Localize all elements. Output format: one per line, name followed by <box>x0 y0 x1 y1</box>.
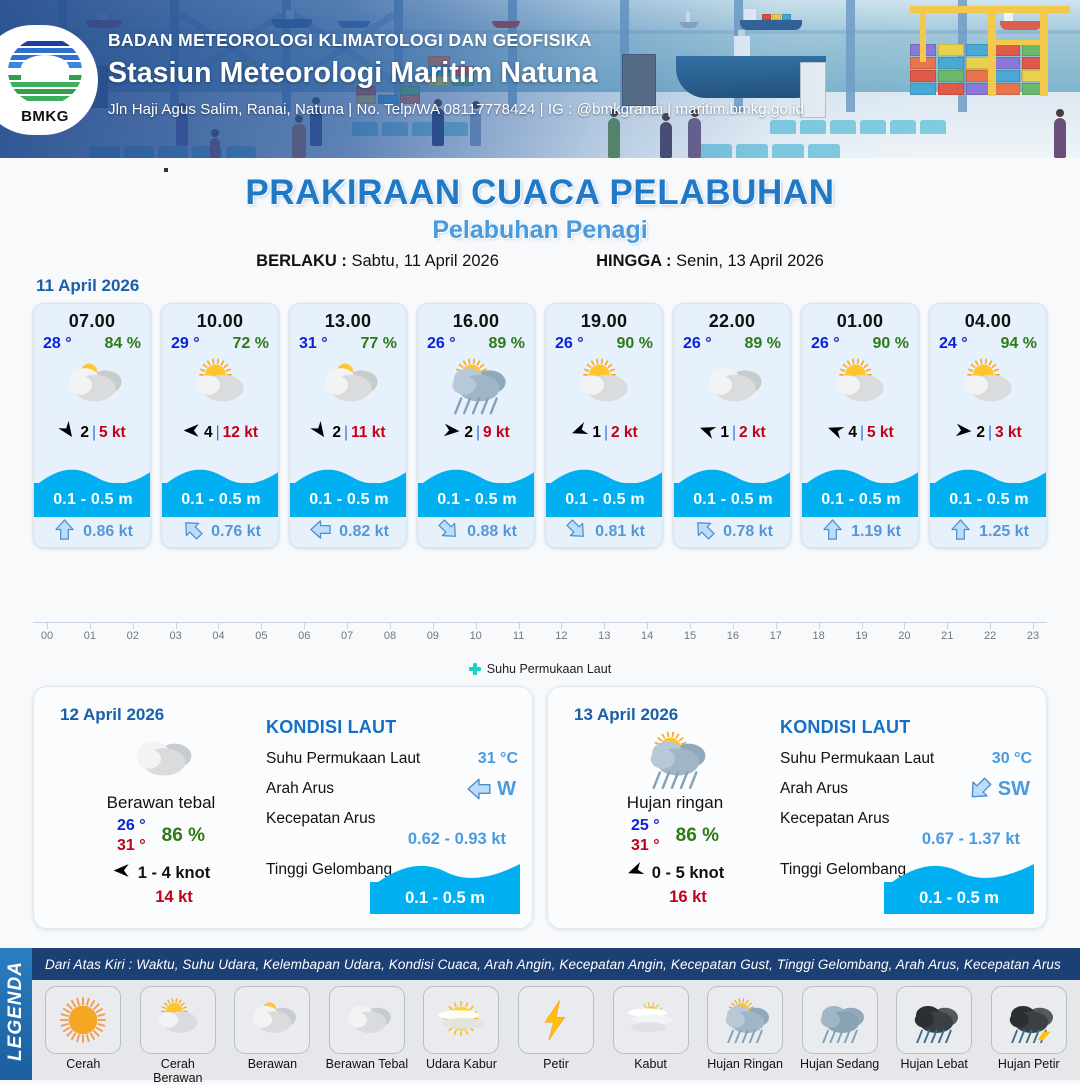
legend-item-label: Petir <box>513 1057 600 1071</box>
partly-cloudy-icon <box>34 355 150 417</box>
hourly-card: 16.0026 °89 %2|9 kt0.1 - 0.5 m0.88 kt <box>417 303 535 548</box>
card-wave-zone: 0.1 - 0.5 m0.76 kt <box>162 453 279 547</box>
sun-cloud-icon <box>930 355 1046 417</box>
chart-tick <box>947 622 948 629</box>
heavy-rain-icon <box>896 986 972 1054</box>
wave-height-band: 0.1 - 0.5 m <box>802 483 919 517</box>
current-speed: 1.19 kt <box>851 523 901 541</box>
chart-tick <box>862 622 863 629</box>
panel-wave-graphic: 0.1 - 0.5 m <box>370 854 520 914</box>
legend-item: Petir <box>513 986 600 1080</box>
wave-height: 0.1 - 0.5 m <box>53 491 133 509</box>
panel-gust: 16 kt <box>596 888 780 907</box>
current-speed: 0.81 kt <box>595 523 645 541</box>
card-wave-zone: 0.1 - 0.5 m0.82 kt <box>290 453 407 547</box>
wave-height-band: 0.1 - 0.5 m <box>162 483 279 517</box>
wind-separator: | <box>216 424 220 442</box>
chart-tick <box>990 622 991 629</box>
legend-marker-icon <box>469 663 481 675</box>
validity-row: BERLAKU : Sabtu, 11 April 2026 HINGGA : … <box>0 252 1080 271</box>
panel-temp-max: 31 ° <box>631 836 660 856</box>
card-wave-zone: 0.1 - 0.5 m0.86 kt <box>34 453 151 547</box>
hourly-date: 11 April 2026 <box>36 276 139 296</box>
card-temperature: 24 ° <box>939 335 968 353</box>
cloudy-icon <box>674 355 790 417</box>
legend-item-label: Berawan <box>229 1057 316 1071</box>
legend-item-label: Cerah <box>40 1057 127 1071</box>
legend-item: Hujan Petir <box>985 986 1072 1080</box>
station-name: Stasiun Meteorologi Maritim Natuna <box>108 57 804 90</box>
daily-panel: 13 April 2026Hujan ringan25 °31 °86 %0 -… <box>547 686 1047 929</box>
card-humidity: 77 % <box>361 335 397 353</box>
hourly-forecast-cards: 07.0028 °84 %2|5 kt0.1 - 0.5 m0.86 kt10.… <box>33 303 1047 548</box>
current-speed-value: 0.67 - 1.37 kt <box>780 830 1032 849</box>
chart-tick-label: 01 <box>84 630 96 642</box>
sea-row-value: 31 °C <box>478 750 518 768</box>
legend-item-label: Hujan Ringan <box>702 1057 789 1071</box>
wind-speed: 3 kt <box>995 424 1022 442</box>
card-humidity: 94 % <box>1001 335 1037 353</box>
card-wave-zone: 0.1 - 0.5 m0.78 kt <box>674 453 791 547</box>
wind-speed: 5 kt <box>867 424 894 442</box>
chart-tick-label: 04 <box>212 630 224 642</box>
card-temperature: 28 ° <box>43 335 72 353</box>
fog-icon <box>613 986 689 1054</box>
chart-tick-label: 05 <box>255 630 267 642</box>
card-wave-zone: 0.1 - 0.5 m0.88 kt <box>418 453 535 547</box>
sea-row-label: Suhu Permukaan Laut <box>266 750 420 767</box>
valid-until-value: Senin, 13 April 2026 <box>676 252 824 270</box>
card-wind: 1|2 kt <box>674 421 790 445</box>
card-wind: 2|11 kt <box>290 421 406 445</box>
card-temperature: 29 ° <box>171 335 200 353</box>
wind-separator: | <box>92 424 96 442</box>
card-wave-zone: 0.1 - 0.5 m0.81 kt <box>546 453 663 547</box>
sst-chart: 0001020304050607080910111213141516171819… <box>33 600 1047 670</box>
panel-wind-range: 1 - 4 knot <box>138 864 210 883</box>
wind-direction-arrow-icon <box>698 421 717 445</box>
moderate-rain-icon <box>802 986 878 1054</box>
chart-tick-label: 19 <box>855 630 867 642</box>
wave-height: 0.1 - 0.5 m <box>693 491 773 509</box>
card-time: 10.00 <box>162 311 278 332</box>
card-current: 0.88 kt <box>418 517 535 547</box>
chart-tick <box>690 622 691 629</box>
card-wind: 4|5 kt <box>802 421 918 445</box>
panel-wave-height: 0.1 - 0.5 m <box>405 889 485 908</box>
wind-direction-arrow-icon <box>182 421 201 445</box>
chart-legend: Suhu Permukaan Laut <box>33 662 1047 676</box>
card-current: 0.76 kt <box>162 517 279 547</box>
wind-separator: | <box>604 424 608 442</box>
chart-tick <box>776 622 777 629</box>
wave-height: 0.1 - 0.5 m <box>565 491 645 509</box>
panel-condition: Berawan tebal <box>56 793 266 813</box>
valid-from-value: Sabtu, 11 April 2026 <box>352 252 499 270</box>
panel-date: 12 April 2026 <box>60 705 164 725</box>
haze-icon <box>423 986 499 1054</box>
card-time: 19.00 <box>546 311 662 332</box>
legend-item-label: Kabut <box>607 1057 694 1071</box>
legend-item-label: Hujan Petir <box>985 1057 1072 1071</box>
sea-row: Arah ArusSW <box>780 780 1032 798</box>
card-wind: 2|5 kt <box>34 421 150 445</box>
cloudy-icon <box>329 986 405 1054</box>
current-direction-arrow-icon <box>309 518 332 546</box>
current-direction-arrow-icon <box>821 518 844 546</box>
panel-temp-min: 26 ° <box>117 816 146 836</box>
legend-section: LEGENDA Dari Atas Kiri : Waktu, Suhu Uda… <box>0 948 1080 1080</box>
wind-separator: | <box>344 424 348 442</box>
panel-condition: Hujan ringan <box>570 793 780 813</box>
panel-wave-band: 0.1 - 0.5 m <box>884 882 1034 914</box>
daily-forecast-panels: 12 April 2026Berawan tebal26 °31 °86 %1 … <box>33 686 1047 929</box>
wind-speed: 2 kt <box>739 424 766 442</box>
chart-tick <box>476 622 477 629</box>
valid-from-label: BERLAKU : <box>256 252 347 270</box>
current-speed: 0.82 kt <box>339 523 389 541</box>
card-current: 1.19 kt <box>802 517 919 547</box>
contact-info: Jln Haji Agus Salim, Ranai, Natuna | No.… <box>108 101 804 118</box>
wave-height: 0.1 - 0.5 m <box>949 491 1029 509</box>
legend-note: Dari Atas Kiri : Waktu, Suhu Udara, Kele… <box>32 948 1080 980</box>
wind-scale: 1 <box>720 424 729 442</box>
wind-scale: 2 <box>332 424 341 442</box>
light-rain-icon <box>418 355 534 417</box>
lightning-icon <box>518 986 594 1054</box>
legend-items: CerahCerah BerawanBerawanBerawan TebalUd… <box>32 980 1080 1080</box>
wind-speed: 9 kt <box>483 424 510 442</box>
sea-conditions-title: KONDISI LAUT <box>266 717 518 738</box>
chart-tick-label: 12 <box>555 630 567 642</box>
wind-speed: 5 kt <box>99 424 126 442</box>
current-direction-arrow-icon <box>949 518 972 546</box>
card-wind: 1|2 kt <box>546 421 662 445</box>
sea-row-label: Arah Arus <box>780 780 848 797</box>
sun-cloud-icon <box>162 355 278 417</box>
current-direction-arrow-icon <box>53 518 76 546</box>
wind-direction-arrow-icon <box>826 421 845 445</box>
wave-height: 0.1 - 0.5 m <box>309 491 389 509</box>
chart-tick <box>218 622 219 629</box>
sea-row: Kecepatan Arus <box>266 810 518 828</box>
panel-wind: 1 - 4 knot <box>56 861 266 885</box>
hourly-card: 04.0024 °94 %2|3 kt0.1 - 0.5 m1.25 kt <box>929 303 1047 548</box>
current-direction-arrow-icon <box>437 518 460 546</box>
wave-height-band: 0.1 - 0.5 m <box>930 483 1047 517</box>
chart-tick-label: 22 <box>984 630 996 642</box>
sun-cloud-icon <box>140 986 216 1054</box>
wind-scale: 4 <box>848 424 857 442</box>
sea-row-value: 30 °C <box>992 750 1032 768</box>
chart-tick <box>904 622 905 629</box>
chart-tick <box>819 622 820 629</box>
card-current: 0.82 kt <box>290 517 407 547</box>
card-temperature: 26 ° <box>427 335 456 353</box>
partly-cloudy-icon <box>234 986 310 1054</box>
current-speed: 0.76 kt <box>211 523 261 541</box>
panel-date: 13 April 2026 <box>574 705 678 725</box>
chart-ticks <box>33 622 1047 630</box>
hourly-card: 19.0026 °90 %1|2 kt0.1 - 0.5 m0.81 kt <box>545 303 663 548</box>
card-humidity: 90 % <box>873 335 909 353</box>
card-temperature: 26 ° <box>683 335 712 353</box>
sun-icon <box>45 986 121 1054</box>
wave-height: 0.1 - 0.5 m <box>437 491 517 509</box>
sea-row-value: W <box>466 776 516 802</box>
card-temperature: 26 ° <box>555 335 584 353</box>
card-time: 16.00 <box>418 311 534 332</box>
panel-wave-graphic: 0.1 - 0.5 m <box>884 854 1034 914</box>
chart-tick <box>433 622 434 629</box>
chart-tick <box>390 622 391 629</box>
chart-tick <box>519 622 520 629</box>
page-title: PRAKIRAAN CUACA PELABUHAN <box>0 173 1080 213</box>
chart-tick-label: 20 <box>898 630 910 642</box>
sea-row-value: SW <box>967 776 1030 802</box>
wind-scale: 2 <box>464 424 473 442</box>
card-current: 1.25 kt <box>930 517 1047 547</box>
sea-row: Suhu Permukaan Laut30 °C <box>780 750 1032 768</box>
legend-side-label: LEGENDA <box>5 955 27 1067</box>
legend-item: Udara Kabur <box>418 986 505 1080</box>
chart-tick <box>1033 622 1034 629</box>
wind-speed: 2 kt <box>611 424 638 442</box>
hourly-card: 22.0026 °89 %1|2 kt0.1 - 0.5 m0.78 kt <box>673 303 791 548</box>
current-direction-arrow-icon <box>565 518 588 546</box>
chart-tick-label: 00 <box>41 630 53 642</box>
chart-tick <box>304 622 305 629</box>
chart-tick-label: 15 <box>684 630 696 642</box>
wave-height: 0.1 - 0.5 m <box>181 491 261 509</box>
thunderstorm-icon <box>991 986 1067 1054</box>
chart-tick-label: 13 <box>598 630 610 642</box>
hourly-card: 10.0029 °72 %4|12 kt0.1 - 0.5 m0.76 kt <box>161 303 279 548</box>
legend-item: Hujan Lebat <box>891 986 978 1080</box>
legend-item-label: Hujan Lebat <box>891 1057 978 1071</box>
wind-separator: | <box>732 424 736 442</box>
current-speed: 1.25 kt <box>979 523 1029 541</box>
daily-panel: 12 April 2026Berawan tebal26 °31 °86 %1 … <box>33 686 533 929</box>
wave-height-band: 0.1 - 0.5 m <box>418 483 535 517</box>
card-humidity: 84 % <box>105 335 141 353</box>
panel-weather-summary: Hujan ringan25 °31 °86 %0 - 5 knot16 kt <box>570 731 780 907</box>
bmkg-logo-emblem <box>8 37 82 105</box>
chart-tick <box>604 622 605 629</box>
sea-row-label: Arah Arus <box>266 780 334 797</box>
wind-direction-arrow-icon <box>58 421 77 445</box>
legend-item: Cerah <box>40 986 127 1080</box>
panel-temp-min: 25 ° <box>631 816 660 836</box>
chart-tick <box>47 622 48 629</box>
wave-height-band: 0.1 - 0.5 m <box>34 483 151 517</box>
card-time: 22.00 <box>674 311 790 332</box>
chart-tick <box>133 622 134 629</box>
panel-temp-max: 31 ° <box>117 836 146 856</box>
legend-item: Berawan Tebal <box>324 986 411 1080</box>
chart-tick-label: 06 <box>298 630 310 642</box>
light-rain-icon <box>570 731 780 789</box>
card-wind: 4|12 kt <box>162 421 278 445</box>
card-wave-zone: 0.1 - 0.5 m1.25 kt <box>930 453 1047 547</box>
current-speed: 0.78 kt <box>723 523 773 541</box>
chart-tick <box>347 622 348 629</box>
panel-wind: 0 - 5 knot <box>570 861 780 885</box>
card-humidity: 90 % <box>617 335 653 353</box>
chart-tick-label: 03 <box>169 630 181 642</box>
panel-wind-range: 0 - 5 knot <box>652 864 724 883</box>
legend-item-label: Hujan Sedang <box>796 1057 883 1071</box>
wind-direction-arrow-icon <box>954 421 973 445</box>
wave-height-band: 0.1 - 0.5 m <box>290 483 407 517</box>
card-humidity: 72 % <box>233 335 269 353</box>
partly-cloudy-icon <box>290 355 406 417</box>
sun-cloud-icon <box>802 355 918 417</box>
panel-wave-band: 0.1 - 0.5 m <box>370 882 520 914</box>
agency-name: BADAN METEOROLOGI KLIMATOLOGI DAN GEOFIS… <box>108 30 804 51</box>
chart-tick <box>176 622 177 629</box>
legend-item: Cerah Berawan <box>135 986 222 1080</box>
card-wind: 2|9 kt <box>418 421 534 445</box>
card-wind: 2|3 kt <box>930 421 1046 445</box>
panel-humidity: 86 % <box>676 825 719 847</box>
valid-until-label: HINGGA : <box>596 252 671 270</box>
card-time: 07.00 <box>34 311 150 332</box>
page-subtitle: Pelabuhan Penagi <box>0 216 1080 245</box>
wind-direction-arrow-icon <box>310 421 329 445</box>
wind-scale: 2 <box>80 424 89 442</box>
chart-tick <box>261 622 262 629</box>
chart-tick-label: 17 <box>770 630 782 642</box>
legend-item: Berawan <box>229 986 316 1080</box>
hourly-card: 07.0028 °84 %2|5 kt0.1 - 0.5 m0.86 kt <box>33 303 151 548</box>
header-banner: BMKG BADAN METEOROLOGI KLIMATOLOGI DAN G… <box>0 0 1080 158</box>
card-current: 0.81 kt <box>546 517 663 547</box>
card-time: 01.00 <box>802 311 918 332</box>
card-wave-zone: 0.1 - 0.5 m1.19 kt <box>802 453 919 547</box>
wind-scale: 4 <box>204 424 213 442</box>
sun-cloud-icon <box>546 355 662 417</box>
current-direction-text: SW <box>998 778 1030 801</box>
chart-tick-labels: 0001020304050607080910111213141516171819… <box>33 630 1047 648</box>
light-rain-icon <box>707 986 783 1054</box>
wave-height-band: 0.1 - 0.5 m <box>674 483 791 517</box>
wind-separator: | <box>476 424 480 442</box>
cloudy-icon <box>56 731 266 789</box>
wind-direction-arrow-icon <box>626 861 645 885</box>
sea-row: Suhu Permukaan Laut31 °C <box>266 750 518 768</box>
legend-item: Kabut <box>607 986 694 1080</box>
current-speed-value: 0.62 - 0.93 kt <box>266 830 518 849</box>
panel-wave-height: 0.1 - 0.5 m <box>919 889 999 908</box>
chart-tick-label: 09 <box>427 630 439 642</box>
legend-item: Hujan Sedang <box>796 986 883 1080</box>
panel-humidity: 86 % <box>162 825 205 847</box>
hourly-card: 13.0031 °77 %2|11 kt0.1 - 0.5 m0.82 kt <box>289 303 407 548</box>
chart-tick-label: 18 <box>813 630 825 642</box>
sea-row-label: Kecepatan Arus <box>266 810 375 827</box>
wind-scale: 2 <box>976 424 985 442</box>
hourly-card: 01.0026 °90 %4|5 kt0.1 - 0.5 m1.19 kt <box>801 303 919 548</box>
current-speed: 0.86 kt <box>83 523 133 541</box>
chart-tick <box>647 622 648 629</box>
wind-direction-arrow-icon <box>442 421 461 445</box>
chart-tick <box>733 622 734 629</box>
chart-tick-label: 02 <box>127 630 139 642</box>
dot-artifact <box>164 168 168 172</box>
card-current: 0.78 kt <box>674 517 791 547</box>
wind-separator: | <box>988 424 992 442</box>
bmkg-logo-text: BMKG <box>8 108 82 125</box>
card-humidity: 89 % <box>745 335 781 353</box>
card-temperature: 26 ° <box>811 335 840 353</box>
wave-height-band: 0.1 - 0.5 m <box>546 483 663 517</box>
current-speed: 0.88 kt <box>467 523 517 541</box>
chart-tick-label: 08 <box>384 630 396 642</box>
chart-tick-label: 07 <box>341 630 353 642</box>
chart-tick-label: 11 <box>513 630 524 642</box>
chart-tick-label: 16 <box>727 630 739 642</box>
wind-speed: 11 kt <box>351 424 385 442</box>
legend-item-label: Udara Kabur <box>418 1057 505 1071</box>
card-current: 0.86 kt <box>34 517 151 547</box>
panel-gust: 14 kt <box>82 888 266 907</box>
current-direction-arrow-icon <box>181 518 204 546</box>
legend-item-label: Berawan Tebal <box>324 1057 411 1071</box>
sea-row: Kecepatan Arus <box>780 810 1032 828</box>
wind-separator: | <box>860 424 864 442</box>
sea-conditions-title: KONDISI LAUT <box>780 717 1032 738</box>
card-time: 13.00 <box>290 311 406 332</box>
wind-direction-arrow-icon <box>570 421 589 445</box>
legend-label: Suhu Permukaan Laut <box>487 662 611 676</box>
card-time: 04.00 <box>930 311 1046 332</box>
sea-row: Arah ArusW <box>266 780 518 798</box>
legend-item-label: Cerah Berawan <box>135 1057 222 1085</box>
chart-tick <box>90 622 91 629</box>
card-temperature: 31 ° <box>299 335 328 353</box>
sea-row-label: Kecepatan Arus <box>780 810 889 827</box>
chart-tick-label: 21 <box>941 630 953 642</box>
current-direction-arrow-icon <box>693 518 716 546</box>
chart-tick <box>561 622 562 629</box>
chart-tick-label: 14 <box>641 630 653 642</box>
current-direction-text: W <box>497 778 516 801</box>
wind-scale: 1 <box>592 424 601 442</box>
legend-side-bar: LEGENDA <box>0 948 32 1080</box>
sea-row-label: Suhu Permukaan Laut <box>780 750 934 767</box>
legend-item: Hujan Ringan <box>702 986 789 1080</box>
panel-weather-summary: Berawan tebal26 °31 °86 %1 - 4 knot14 kt <box>56 731 266 907</box>
chart-tick-label: 23 <box>1027 630 1039 642</box>
wind-direction-arrow-icon <box>112 861 131 885</box>
chart-tick-label: 10 <box>470 630 482 642</box>
card-humidity: 89 % <box>489 335 525 353</box>
wind-speed: 12 kt <box>223 424 258 442</box>
wave-height: 0.1 - 0.5 m <box>821 491 901 509</box>
